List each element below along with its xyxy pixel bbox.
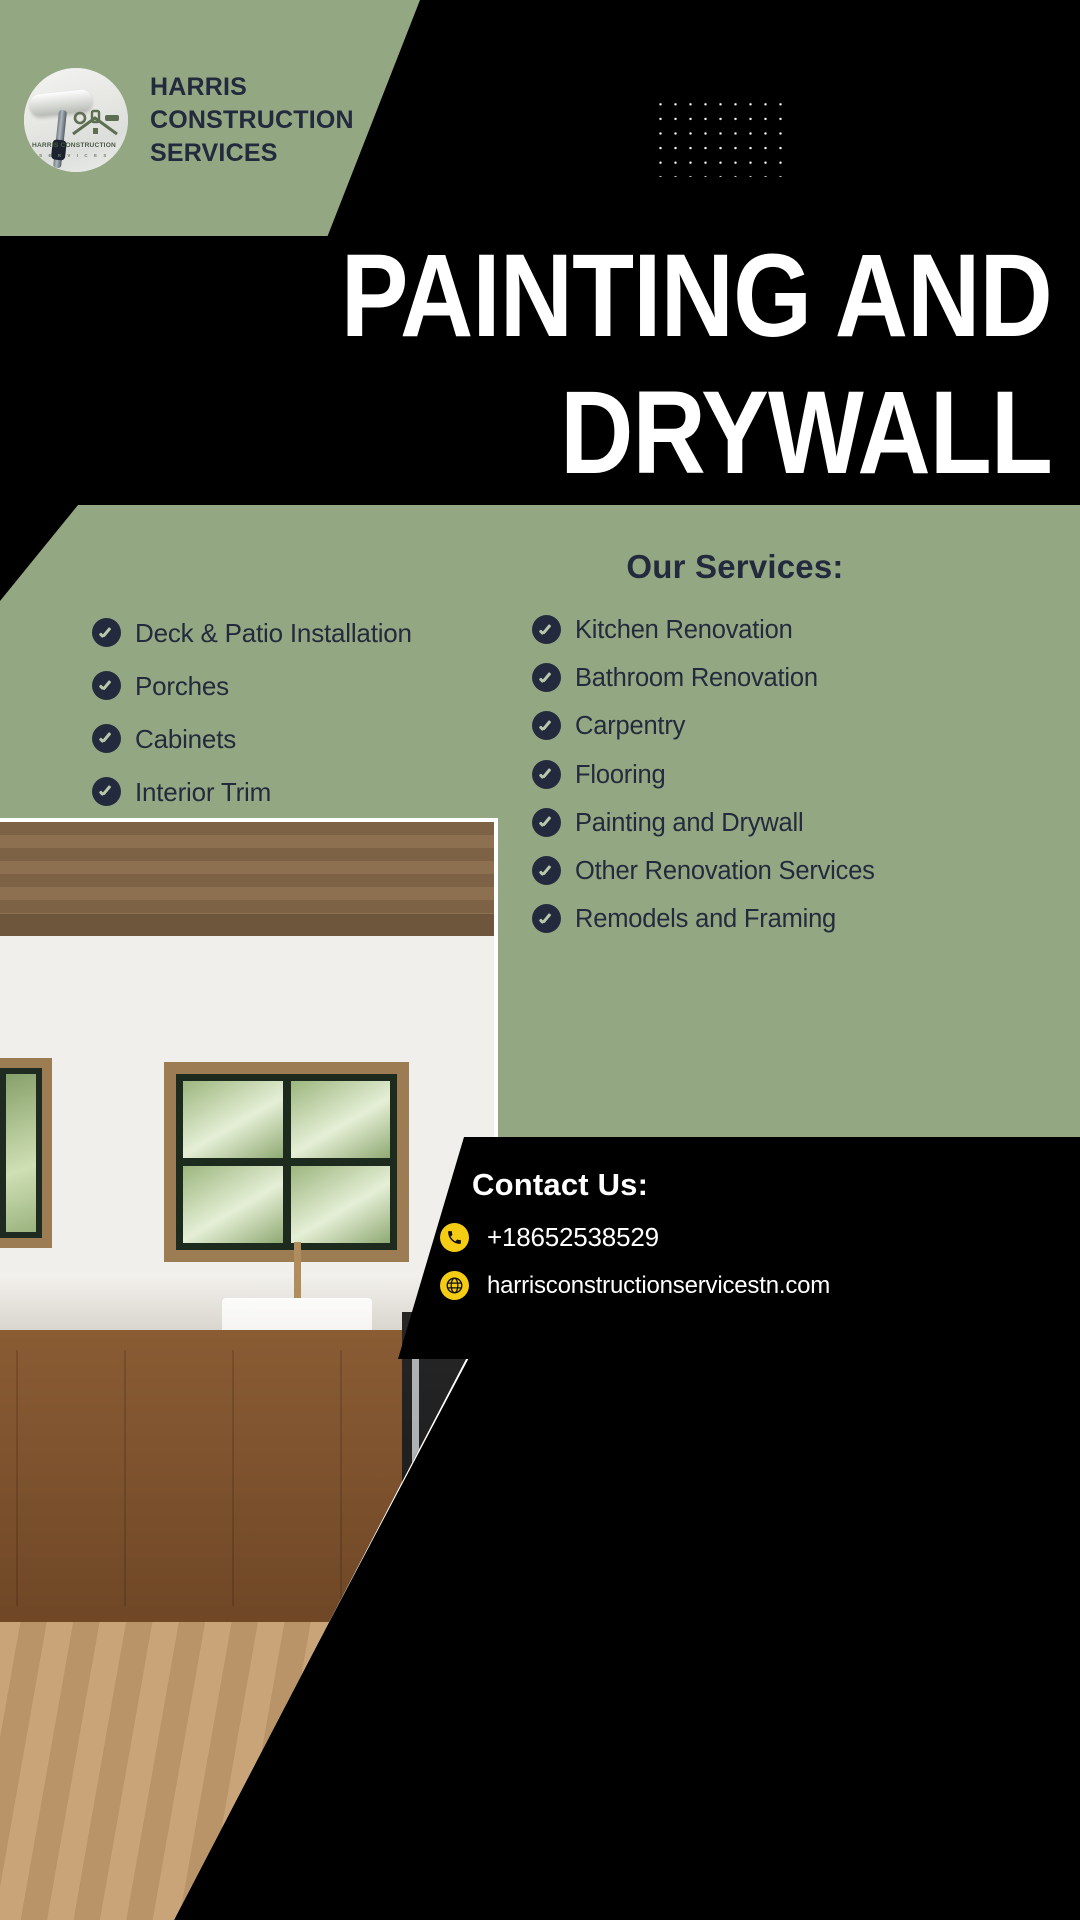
service-label: Painting and Drywall [575,805,803,841]
check-circle-icon [92,777,121,806]
logo-primary-text: HARRIS CONSTRUCTION [24,142,124,149]
brand-name-line-2: CONSTRUCTION [150,104,354,137]
kitchen-photo [0,822,494,1920]
globe-icon [440,1271,469,1300]
check-circle-icon [532,711,561,740]
check-circle-icon [532,615,561,644]
check-circle-icon [532,760,561,789]
service-label: Flooring [575,757,666,793]
check-circle-icon [532,904,561,933]
contact-phone-text: +18652538529 [487,1222,659,1253]
service-label: Carpentry [575,708,685,744]
brand-name-line-3: SERVICES [150,137,354,170]
contact-website-text: harrisconstructionservicestn.com [487,1272,830,1300]
service-label: Kitchen Renovation [575,612,793,648]
list-item: Porches [92,668,512,705]
company-logo-icon: HARRIS CONSTRUCTION S E R V I C E S [24,68,128,172]
service-label: Deck & Patio Installation [135,615,412,652]
list-item: Bathroom Renovation [532,660,902,696]
service-label: Bathroom Renovation [575,660,818,696]
check-circle-icon [92,724,121,753]
service-label: Remodels and Framing [575,901,836,937]
poster-canvas: HARRIS CONSTRUCTION S E R V I C E S HARR… [0,0,1080,1920]
phone-icon [440,1223,469,1252]
brand-name-line-1: HARRIS [150,71,354,104]
contact-phone-row[interactable]: +18652538529 [440,1222,659,1253]
contact-heading: Contact Us: [472,1167,648,1203]
list-item: Cabinets [92,721,512,758]
brand-name: HARRIS CONSTRUCTION SERVICES [150,71,354,170]
check-circle-icon [532,663,561,692]
services-left-column: Deck & Patio Installation Porches Cabine… [92,615,512,827]
brand-lockup: HARRIS CONSTRUCTION S E R V I C E S HARR… [24,68,354,172]
service-label: Interior Trim [135,774,271,811]
contact-website-row[interactable]: harrisconstructionservicestn.com [440,1271,830,1300]
list-item: Remodels and Framing [532,901,902,937]
logo-secondary-text: S E R V I C E S [24,153,124,158]
check-circle-icon [532,808,561,837]
check-circle-icon [532,856,561,885]
list-item: Interior Trim [92,774,512,811]
check-circle-icon [92,671,121,700]
list-item: Flooring [532,757,902,793]
service-label: Cabinets [135,721,236,758]
services-right-column: Kitchen Renovation Bathroom Renovation C… [532,612,902,949]
service-label: Other Renovation Services [575,853,875,889]
house-tools-icon [67,108,123,142]
dot-grid-icon [651,95,787,177]
services-heading: Our Services: [0,548,1080,586]
list-item: Painting and Drywall [532,805,902,841]
check-circle-icon [92,618,121,647]
list-item: Other Renovation Services [532,853,902,889]
headline-line-1: PAINTING AND [147,240,1052,353]
list-item: Deck & Patio Installation [92,615,512,652]
list-item: Carpentry [532,708,902,744]
list-item: Kitchen Renovation [532,612,902,648]
service-label: Porches [135,668,229,705]
headline-line-2: DRYWALL [147,377,1052,490]
page-title: PAINTING AND DRYWALL [0,240,1052,491]
